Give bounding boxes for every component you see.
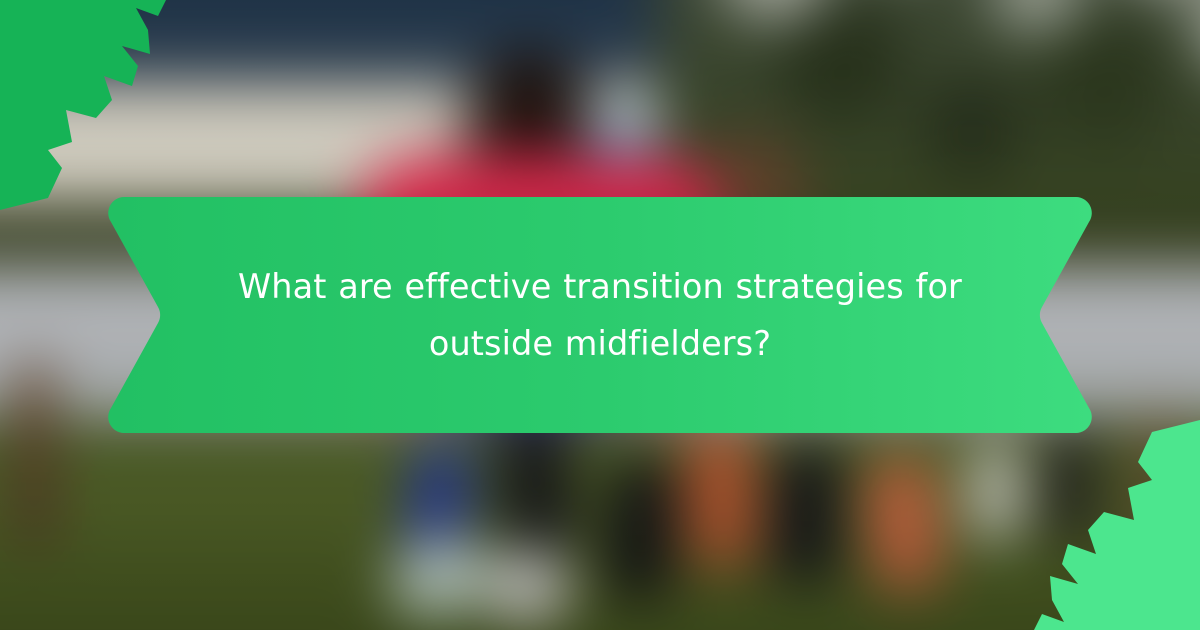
banner-text-container: What are effective transition strategies… (108, 195, 1092, 435)
page-title: What are effective transition strategies… (238, 258, 962, 372)
share-card-canvas: What are effective transition strategies… (0, 0, 1200, 630)
torn-corner-bottom-right-icon (1000, 420, 1200, 630)
torn-corner-top-left-icon (0, 0, 200, 210)
